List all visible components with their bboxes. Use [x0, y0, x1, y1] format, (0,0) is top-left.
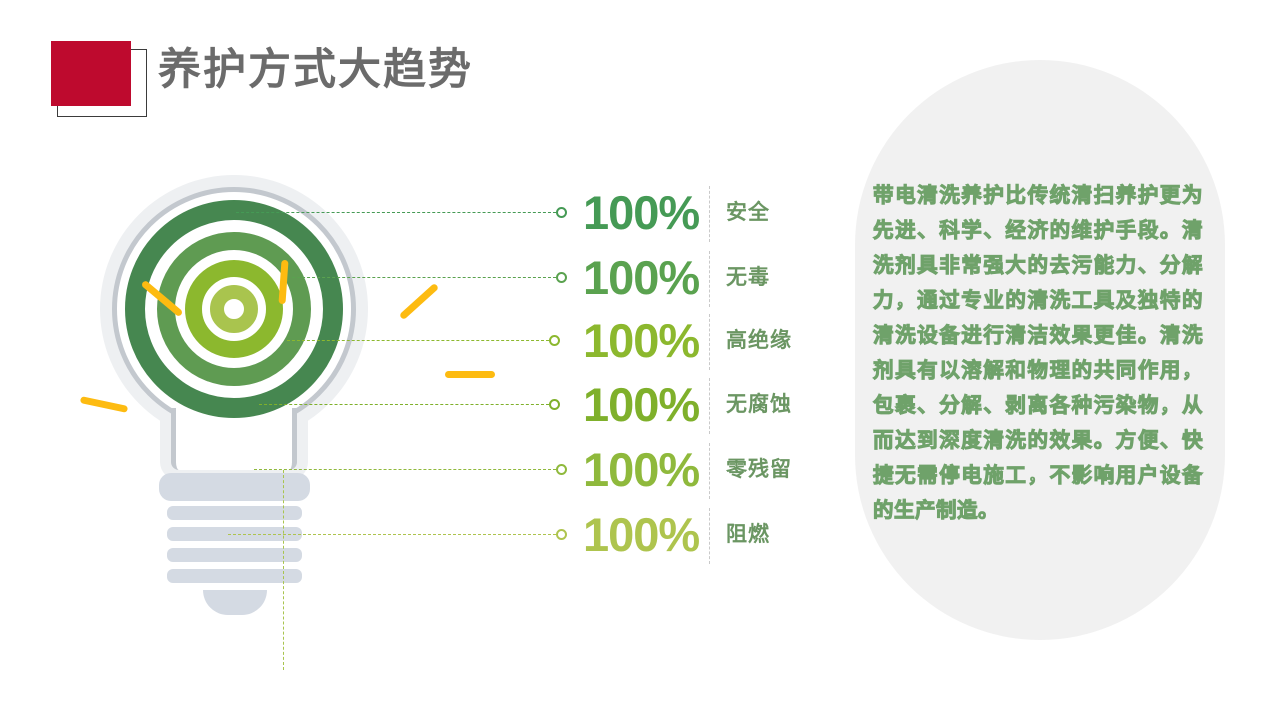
- bulb-base-thread-4: [167, 569, 302, 583]
- metric-divider: [709, 508, 710, 564]
- metric-divider: [709, 378, 710, 434]
- metric-value: 100%: [583, 308, 703, 374]
- slide-canvas: 养护方式大趋势 100%安全100%无毒100%高绝缘100%无腐蚀100%零残…: [0, 0, 1283, 721]
- title-accent-square: [51, 41, 131, 106]
- connector-dot: [556, 272, 567, 283]
- connector-line: [254, 469, 556, 470]
- metric-row[interactable]: 100%安全: [0, 180, 830, 248]
- metric-divider: [709, 314, 710, 370]
- metric-divider: [709, 186, 710, 242]
- connector-line: [259, 404, 549, 405]
- connector-line: [228, 534, 556, 535]
- metric-row[interactable]: 100%高绝缘: [0, 308, 830, 376]
- metric-row[interactable]: 100%阻燃: [0, 502, 830, 570]
- metric-value: 100%: [583, 437, 703, 503]
- metric-label: 安全: [726, 180, 770, 246]
- bulb-base-cap: [203, 590, 267, 615]
- metric-label: 阻燃: [726, 502, 770, 568]
- connector-dot: [549, 335, 560, 346]
- metric-row[interactable]: 100%无毒: [0, 245, 830, 313]
- connector-line: [236, 212, 556, 213]
- metric-label: 无毒: [726, 245, 770, 311]
- info-paragraph: 带电清洗养护比传统清扫养护更为先进、科学、经济的维护手段。清洗剂具非常强大的去污…: [873, 178, 1203, 528]
- metric-row[interactable]: 100%无腐蚀: [0, 372, 830, 440]
- metric-value: 100%: [583, 372, 703, 438]
- metric-value: 100%: [583, 245, 703, 311]
- metric-label: 无腐蚀: [726, 372, 792, 438]
- metric-value: 100%: [583, 502, 703, 568]
- page-title: 养护方式大趋势: [158, 42, 473, 98]
- connector-line: [292, 277, 556, 278]
- metric-label: 零残留: [726, 437, 792, 503]
- metric-value: 100%: [583, 180, 703, 246]
- metric-divider: [709, 251, 710, 307]
- connector-dot: [556, 464, 567, 475]
- connector-dot: [556, 207, 567, 218]
- connector-line: [287, 340, 549, 341]
- metric-row[interactable]: 100%零残留: [0, 437, 830, 505]
- connector-dot: [549, 399, 560, 410]
- connector-dot: [556, 529, 567, 540]
- metric-label: 高绝缘: [726, 308, 792, 374]
- metric-divider: [709, 443, 710, 499]
